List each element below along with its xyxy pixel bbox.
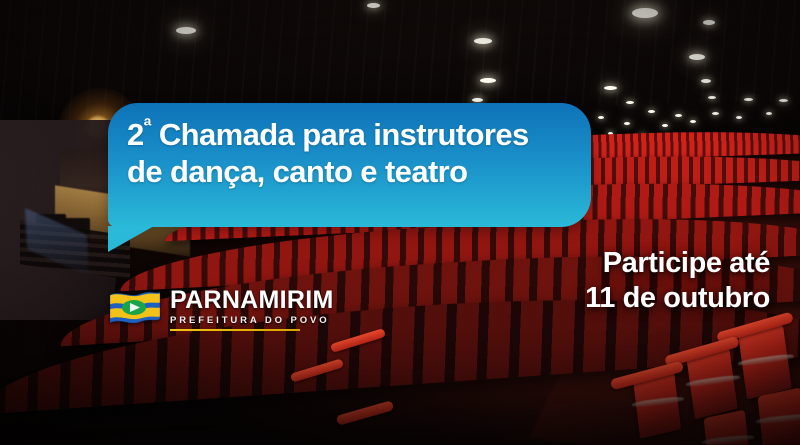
ceiling-light-4 xyxy=(474,38,492,44)
logo-city-name: PARNAMIRIM xyxy=(170,288,334,313)
ceiling-light-7 xyxy=(689,54,705,60)
ceiling-light-22 xyxy=(736,116,742,119)
theater-background-photo xyxy=(0,0,800,445)
ceiling-light-19 xyxy=(624,122,630,125)
ceiling-light-13 xyxy=(744,98,753,101)
ceiling-light-16 xyxy=(675,114,682,117)
logo-tagline: PREFEITURA DO POVO xyxy=(170,316,334,326)
ceiling-light-17 xyxy=(712,112,719,115)
ceiling-light-20 xyxy=(662,124,668,127)
ceiling-light-18 xyxy=(598,116,604,119)
ceiling-light-23 xyxy=(766,112,772,115)
ceiling-light-6 xyxy=(480,78,496,83)
logo-underline-rule xyxy=(170,329,300,331)
ceiling-light-15 xyxy=(648,110,655,113)
ceiling-light-11 xyxy=(626,101,634,104)
ceiling-light-5 xyxy=(703,20,715,25)
ceiling-light-21 xyxy=(690,120,696,123)
parnamirim-logo[interactable]: PARNAMIRIM PREFEITURA DO POVO xyxy=(108,288,334,331)
ceiling-light-2 xyxy=(367,3,380,8)
logo-text-block: PARNAMIRIM PREFEITURA DO POVO xyxy=(170,288,334,331)
ceiling-light-1 xyxy=(176,27,196,34)
parnamirim-flag-icon xyxy=(108,289,162,329)
poster-canvas: 2ª Chamada para instrutoresde dança, can… xyxy=(0,0,800,445)
ceiling-light-12 xyxy=(708,96,716,99)
ceiling-light-10 xyxy=(604,86,617,90)
ceiling-light-9 xyxy=(701,79,711,83)
ceiling-light-8 xyxy=(472,98,483,102)
deadline-callout-text: Participe até11 de outubro xyxy=(585,246,770,316)
ceiling-light-3 xyxy=(632,8,658,18)
ceiling-light-24 xyxy=(580,128,585,131)
ceiling-light-14 xyxy=(779,99,788,102)
stage-figure xyxy=(123,182,136,198)
